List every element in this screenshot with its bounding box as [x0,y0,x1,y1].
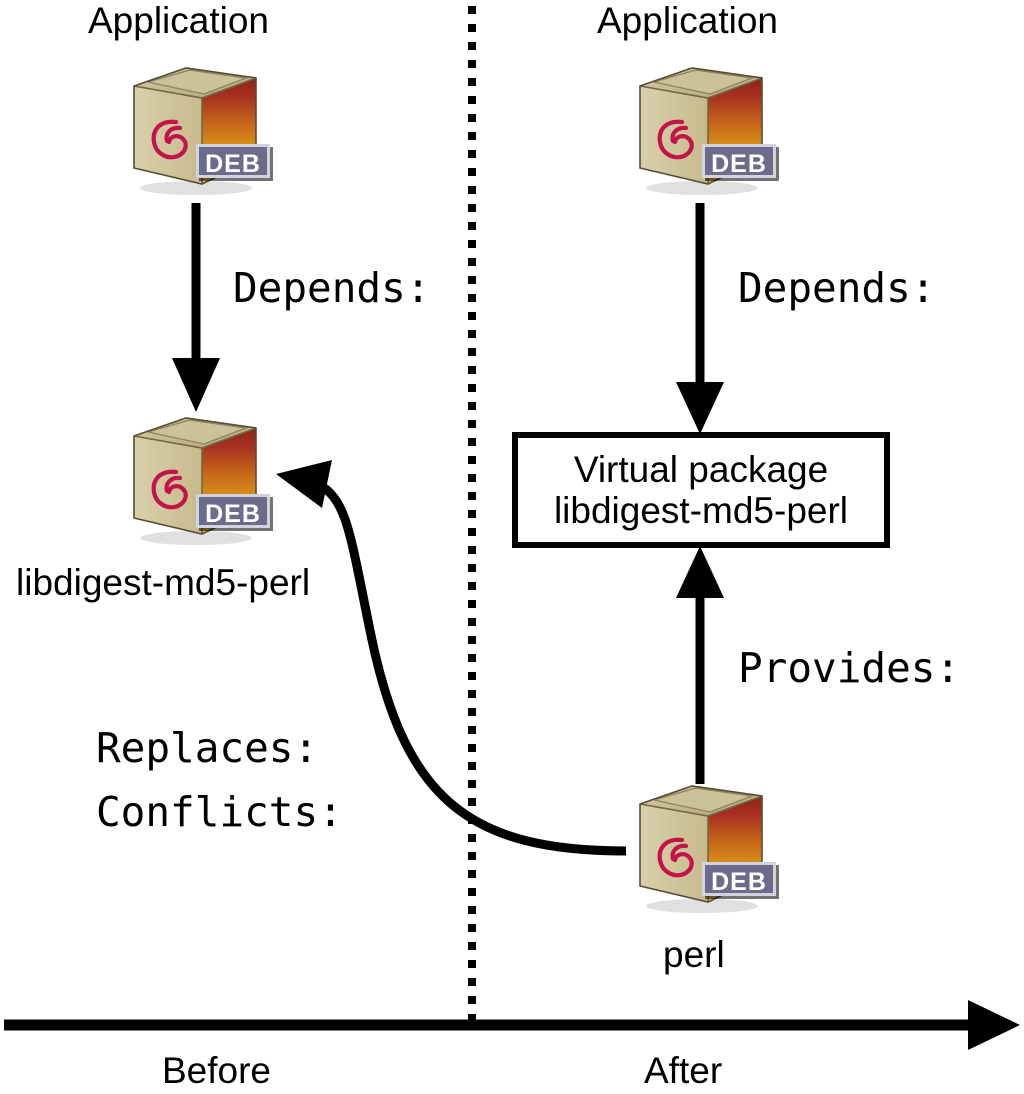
timeline-label-before: Before [162,1052,271,1089]
arrow-provides [676,546,724,784]
before-app-package-badge: DEB [196,144,270,178]
virtual-package-box: Virtual package libdigest-md5-perl [512,432,890,548]
after-depends-label: Depends: [738,268,935,309]
dotted-divider-icon [468,6,476,1032]
replaces-label: Replaces: [96,728,318,769]
before-dependency-label: libdigest-md5-perl [16,564,310,601]
timeline-axis [4,1000,1020,1050]
after-provider-label: perl [663,936,725,973]
after-app-package-badge: DEB [702,144,776,178]
virtual-package-line1: Virtual package [574,449,828,490]
virtual-package-line2: libdigest-md5-perl [554,490,848,531]
before-app-label: Application [88,2,269,39]
before-dependency-package-badge: DEB [196,494,270,528]
before-depends-label: Depends: [233,268,430,309]
after-provider-package-badge: DEB [702,862,776,896]
conflicts-label: Conflicts: [96,792,343,833]
after-app-label: Application [597,2,778,39]
arrow-depends-after [676,203,724,434]
timeline-label-after: After [644,1052,722,1089]
diagram-canvas: Application [0,0,1024,1094]
arrow-depends-before [172,203,220,412]
provides-label: Provides: [738,648,960,689]
